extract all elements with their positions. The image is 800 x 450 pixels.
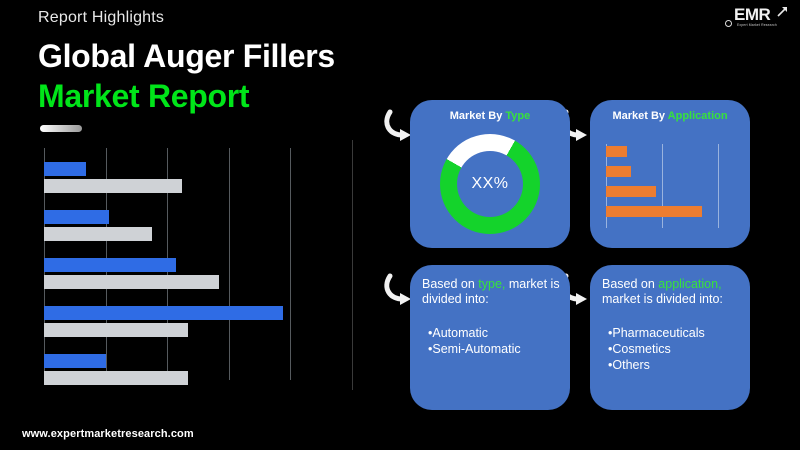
page-title-line1: Global Auger Fillers <box>38 38 335 75</box>
market-by-application-card[interactable]: Market By Application <box>590 100 750 248</box>
bar-blue-2 <box>44 210 109 224</box>
target-dot-icon <box>725 20 732 27</box>
donut-center-value: XX% <box>457 151 523 217</box>
market-by-application-title-highlight: Application <box>668 110 728 122</box>
donut-chart: XX% <box>440 134 540 234</box>
slide-canvas: Report Highlights Global Auger Fillers M… <box>0 0 800 450</box>
logo-wordmark: EMR <box>734 6 770 23</box>
market-by-type-title: Market By Type <box>410 110 570 122</box>
bar-gray-2 <box>44 227 152 241</box>
logo-tagline: Expert Market Research <box>737 23 777 27</box>
based-on-application-prefix: Based on <box>602 277 658 291</box>
footer-url[interactable]: www.expertmarketresearch.com <box>22 428 194 440</box>
list-item: •Semi-Automatic <box>428 341 562 357</box>
emr-logo: EMR Expert Market Research <box>720 4 792 34</box>
donut-ring: XX% <box>440 134 540 234</box>
list-item: •Automatic <box>428 325 562 341</box>
title-underline-rule <box>40 125 82 132</box>
based-on-application-suffix: market is divided into: <box>602 292 723 306</box>
section-divider <box>352 140 353 390</box>
market-by-type-title-prefix: Market By <box>450 110 506 122</box>
mini-bar-2 <box>606 166 631 177</box>
based-on-type-prefix: Based on <box>422 277 478 291</box>
bar-gray-3 <box>44 275 219 289</box>
based-on-application-card[interactable]: Based on application, market is divided … <box>590 265 750 410</box>
based-on-type-card[interactable]: Based on type, market is divided into: •… <box>410 265 570 410</box>
market-by-type-title-highlight: Type <box>505 110 530 122</box>
based-on-type-highlight: type, <box>478 277 505 291</box>
bar-blue-5 <box>44 354 106 368</box>
gridline <box>290 148 291 380</box>
list-item: •Pharmaceuticals <box>608 325 742 341</box>
based-on-application-heading: Based on application, market is divided … <box>602 277 740 307</box>
market-by-type-card[interactable]: Market By Type XX% <box>410 100 570 248</box>
application-segment-list: •Pharmaceuticals •Cosmetics •Others <box>608 325 742 373</box>
bar-gray-4 <box>44 323 188 337</box>
based-on-application-highlight: application, <box>658 277 721 291</box>
mini-bar-4 <box>606 206 702 217</box>
highlights-bar-chart <box>44 148 294 380</box>
bar-blue-4 <box>44 306 283 320</box>
mini-gridline <box>718 144 719 228</box>
mini-bar-3 <box>606 186 656 197</box>
gridline <box>229 148 230 380</box>
bar-blue-3 <box>44 258 176 272</box>
mini-bar-1 <box>606 146 627 157</box>
application-bar-chart <box>604 140 736 232</box>
based-on-type-heading: Based on type, market is divided into: <box>422 277 560 307</box>
market-by-application-title-prefix: Market By <box>612 110 667 122</box>
bar-gray-1 <box>44 179 182 193</box>
type-segment-list: •Automatic •Semi-Automatic <box>428 325 562 357</box>
bar-blue-1 <box>44 162 86 176</box>
page-title-line2: Market Report <box>38 78 249 115</box>
bar-gray-5 <box>44 371 188 385</box>
list-item: •Cosmetics <box>608 341 742 357</box>
market-by-application-title: Market By Application <box>590 110 750 122</box>
list-item: •Others <box>608 357 742 373</box>
kicker-label: Report Highlights <box>38 9 164 27</box>
